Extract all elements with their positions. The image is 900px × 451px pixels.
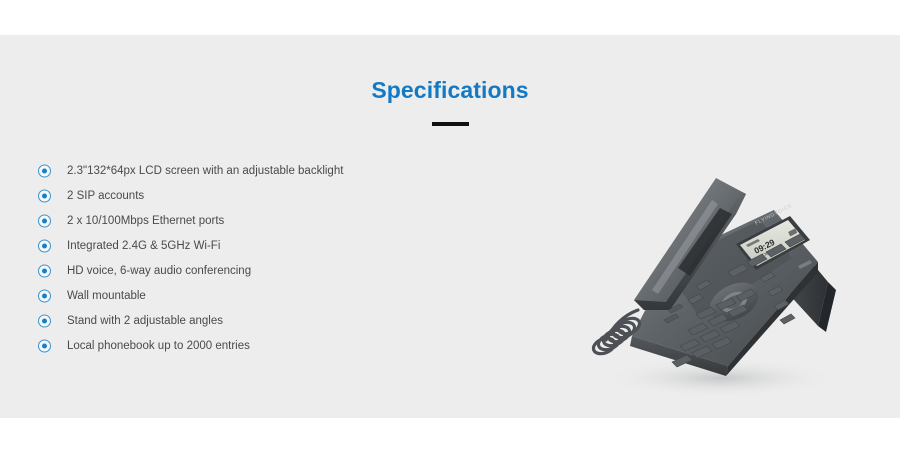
- spec-text: Wall mountable: [67, 289, 146, 303]
- bullet-dot-icon: [38, 164, 51, 177]
- spec-text: 2.3"132*64px LCD screen with an adjustab…: [67, 164, 343, 178]
- bullet-dot-icon: [38, 289, 51, 302]
- spec-text: 2 x 10/100Mbps Ethernet ports: [67, 214, 224, 228]
- list-item: 2 x 10/100Mbps Ethernet ports: [38, 208, 468, 233]
- list-item: Integrated 2.4G & 5GHz Wi-Fi: [38, 233, 468, 258]
- list-item: 2 SIP accounts: [38, 183, 468, 208]
- list-item: 2.3"132*64px LCD screen with an adjustab…: [38, 158, 468, 183]
- bullet-dot-icon: [38, 214, 51, 227]
- bullet-dot-icon: [38, 264, 51, 277]
- product-image: FLYINGVOICE 09:29 Mon, Oct 24: [560, 150, 880, 405]
- spec-text: 2 SIP accounts: [67, 189, 144, 203]
- spec-text: HD voice, 6-way audio conferencing: [67, 264, 251, 278]
- list-item: HD voice, 6-way audio conferencing: [38, 258, 468, 283]
- specifications-page: Specifications 2.3"132*64px LCD screen w…: [0, 0, 900, 451]
- section-heading: Specifications: [0, 76, 900, 126]
- specifications-list: 2.3"132*64px LCD screen with an adjustab…: [38, 158, 468, 358]
- voip-desk-phone-illustration: FLYINGVOICE 09:29 Mon, Oct 24: [560, 150, 880, 405]
- bullet-dot-icon: [38, 339, 51, 352]
- list-item: Wall mountable: [38, 283, 468, 308]
- bullet-dot-icon: [38, 239, 51, 252]
- bullet-dot-icon: [38, 189, 51, 202]
- list-item: Local phonebook up to 2000 entries: [38, 333, 468, 358]
- title-underline-divider: [432, 122, 469, 126]
- spec-text: Stand with 2 adjustable angles: [67, 314, 223, 328]
- page-title: Specifications: [0, 76, 900, 104]
- spec-text: Local phonebook up to 2000 entries: [67, 339, 250, 353]
- list-item: Stand with 2 adjustable angles: [38, 308, 468, 333]
- spec-text: Integrated 2.4G & 5GHz Wi-Fi: [67, 239, 220, 253]
- bullet-dot-icon: [38, 314, 51, 327]
